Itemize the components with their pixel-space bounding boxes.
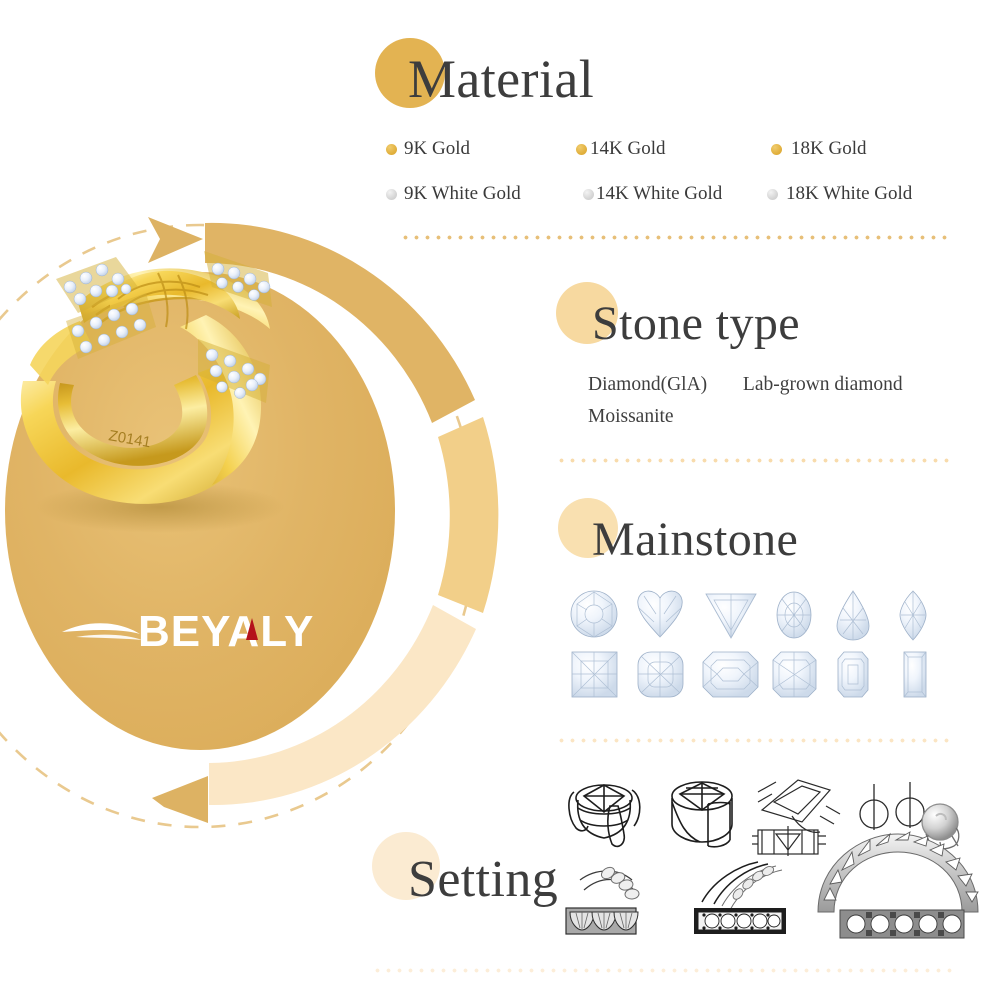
material-option-label: 9K White Gold <box>404 183 521 205</box>
stone-type-line-1: Diamond(GlA) Lab-grown diamond <box>588 374 903 396</box>
setting-bezel-icon <box>672 782 732 847</box>
swatch-white-gold-icon <box>386 189 397 200</box>
material-option-label: 14K White Gold <box>596 183 722 205</box>
gem-pear-icon <box>837 591 869 640</box>
material-row-white-gold: 9K White Gold 14K White Gold 18K White G… <box>386 183 986 205</box>
stone-option-diamond-gia[interactable]: Diamond(GlA) <box>588 374 707 395</box>
setting-channel-icon <box>752 780 840 856</box>
material-option-14k-white-gold[interactable]: 14K White Gold <box>583 183 767 205</box>
material-option-18k-gold[interactable]: 18K Gold <box>771 138 866 160</box>
divider-mainstone <box>556 738 952 743</box>
divider-stone-type <box>556 458 952 463</box>
gem-cushion-icon <box>638 652 683 697</box>
swatch-white-gold-icon <box>583 189 594 200</box>
setting-pave-icon <box>566 865 639 934</box>
material-option-label: 9K Gold <box>404 138 470 160</box>
brand-wordmark: BEYALY <box>138 607 314 656</box>
setting-title: Setting <box>408 850 558 909</box>
setting-illustration-grid <box>562 772 982 952</box>
gem-oval-icon <box>777 592 811 638</box>
gem-baguette-icon <box>904 652 926 697</box>
stone-option-moissanite[interactable]: Moissanite <box>588 406 674 427</box>
material-option-18k-white-gold[interactable]: 18K White Gold <box>767 183 912 205</box>
gem-asscher-icon <box>703 652 758 697</box>
material-row-gold: 9K Gold 14K Gold 18K Gold <box>386 138 986 160</box>
material-option-9k-gold[interactable]: 9K Gold <box>386 138 576 160</box>
arc-stone-type <box>438 417 498 613</box>
setting-prong-icon <box>569 785 640 846</box>
beyaly-logo-icon: BEYALY <box>60 600 350 656</box>
gem-heart-icon <box>638 591 682 637</box>
divider-material <box>400 235 952 240</box>
setting-micro-pave-icon <box>694 862 786 934</box>
swatch-gold-icon <box>576 144 587 155</box>
hero-product-panel: Z0141 <box>0 195 560 835</box>
material-option-14k-gold[interactable]: 14K Gold <box>576 138 771 160</box>
swatch-gold-icon <box>386 144 397 155</box>
stone-type-line-2: Moissanite <box>588 406 674 428</box>
ring-product-image: Z0141 <box>0 195 330 555</box>
gem-marquise-icon <box>900 591 926 640</box>
bottom-arrow-icon <box>152 776 208 823</box>
swatch-gold-icon <box>771 144 782 155</box>
gem-radiant-icon <box>773 652 816 697</box>
mainstone-title: Mainstone <box>592 512 798 567</box>
mainstone-shape-grid <box>568 586 968 706</box>
swatch-white-gold-icon <box>767 189 778 200</box>
gem-trillion-icon <box>706 594 756 638</box>
material-option-label: 18K White Gold <box>786 183 912 205</box>
gem-princess-icon <box>572 652 617 697</box>
gem-emerald-icon <box>838 652 868 697</box>
material-option-label: 18K Gold <box>791 138 866 160</box>
infographic-page: Z0141 <box>0 0 1000 1000</box>
stone-option-lab-grown-diamond[interactable]: Lab-grown diamond <box>743 374 903 395</box>
divider-setting <box>372 968 952 973</box>
material-option-label: 14K Gold <box>590 138 665 160</box>
gem-round-icon <box>571 591 617 637</box>
brand-logo: BEYALY <box>60 600 350 656</box>
stone-type-title: Stone type <box>592 296 800 351</box>
setting-eternity-icon <box>818 832 978 938</box>
material-title: Material <box>408 48 594 110</box>
material-option-9k-white-gold[interactable]: 9K White Gold <box>386 183 583 205</box>
